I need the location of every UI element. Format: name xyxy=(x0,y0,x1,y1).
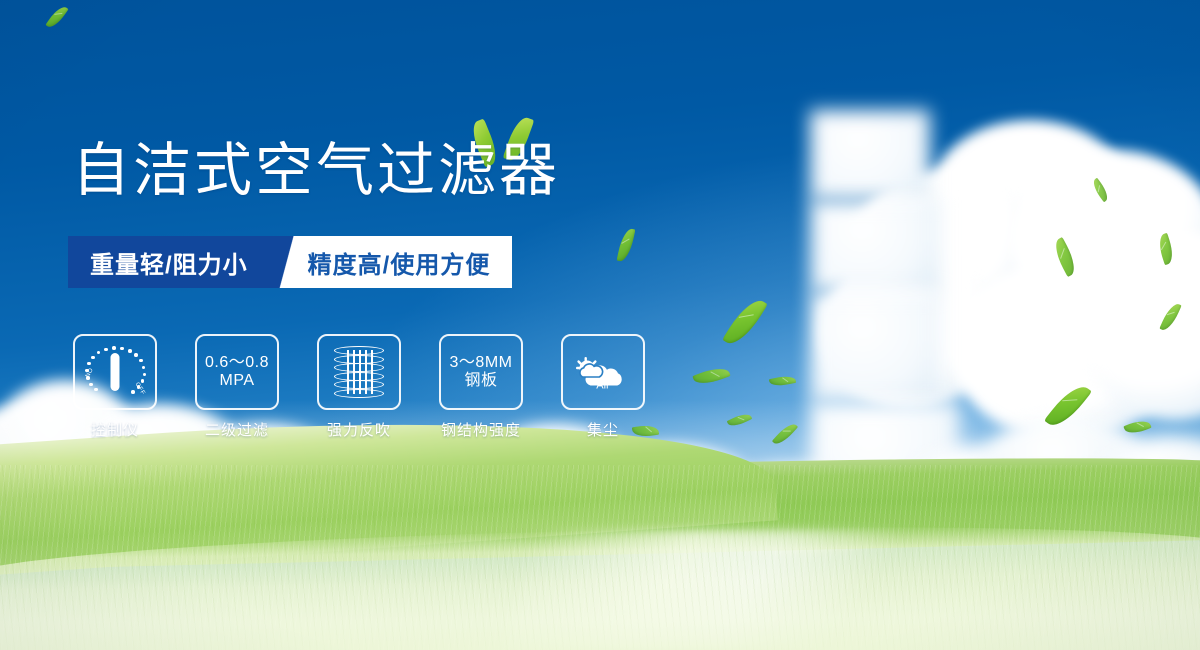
steel-plate-text-icon: 3〜8MM 钢板 xyxy=(450,354,513,391)
feature-label: 控制仪 xyxy=(70,419,160,440)
feature-icon-box xyxy=(317,334,401,410)
steel-value-line1: 3〜8MM xyxy=(450,354,513,371)
subtitle-left-badge: 重量轻/阻力小 xyxy=(68,236,274,288)
feature-label: 集尘 xyxy=(558,419,648,440)
feature-icon-box: 3〜8MM 钢板 xyxy=(439,334,523,410)
feature-item-pressure[interactable]: 0.6〜0.8 MPA 二级过滤 xyxy=(192,334,282,440)
pressure-text-icon: 0.6〜0.8 MPA xyxy=(205,354,269,391)
pressure-value-line1: 0.6〜0.8 xyxy=(205,354,269,371)
feature-icon-box: Air xyxy=(561,334,645,410)
steel-value-line2: 钢板 xyxy=(450,372,513,390)
feature-item-steel-strength[interactable]: 3〜8MM 钢板 钢结构强度 xyxy=(436,334,526,440)
dial-label-off: OFF xyxy=(133,382,145,397)
page-title: 自洁式空气过滤器 xyxy=(72,142,560,200)
feature-label: 钢结构强度 xyxy=(436,419,526,440)
feature-icon-box: NO OFF xyxy=(73,334,157,410)
grass-field xyxy=(0,465,1200,650)
feature-label: 强力反吹 xyxy=(314,419,404,440)
air-label: Air xyxy=(596,380,610,391)
feature-item-control-dial[interactable]: NO OFF 控制仪 xyxy=(70,334,160,440)
feature-item-backblow[interactable]: 强力反吹 xyxy=(314,334,404,440)
feature-item-dust-collection[interactable]: Air 集尘 xyxy=(558,334,648,440)
product-hero-banner: 自洁式空气过滤器 重量轻/阻力小 精度高/使用方便 xyxy=(0,0,1200,650)
filter-cartridge-icon xyxy=(334,346,384,398)
pressure-value-line2: MPA xyxy=(205,372,269,390)
grass-bottom-fade xyxy=(0,580,1200,650)
cloud-cluster-right xyxy=(810,110,1200,440)
feature-list: NO OFF 控制仪 0.6〜0.8 MPA 二级过滤 xyxy=(70,334,648,440)
control-dial-icon: NO OFF xyxy=(84,344,146,400)
feature-icon-box: 0.6〜0.8 MPA xyxy=(195,334,279,410)
subtitle-separator xyxy=(274,236,300,288)
subtitle-right-badge: 精度高/使用方便 xyxy=(300,236,513,288)
feature-label: 二级过滤 xyxy=(192,419,282,440)
dial-needle-icon xyxy=(111,353,120,391)
subtitle-bar: 重量轻/阻力小 精度高/使用方便 xyxy=(68,236,512,288)
air-cloud-icon: Air xyxy=(574,353,632,391)
